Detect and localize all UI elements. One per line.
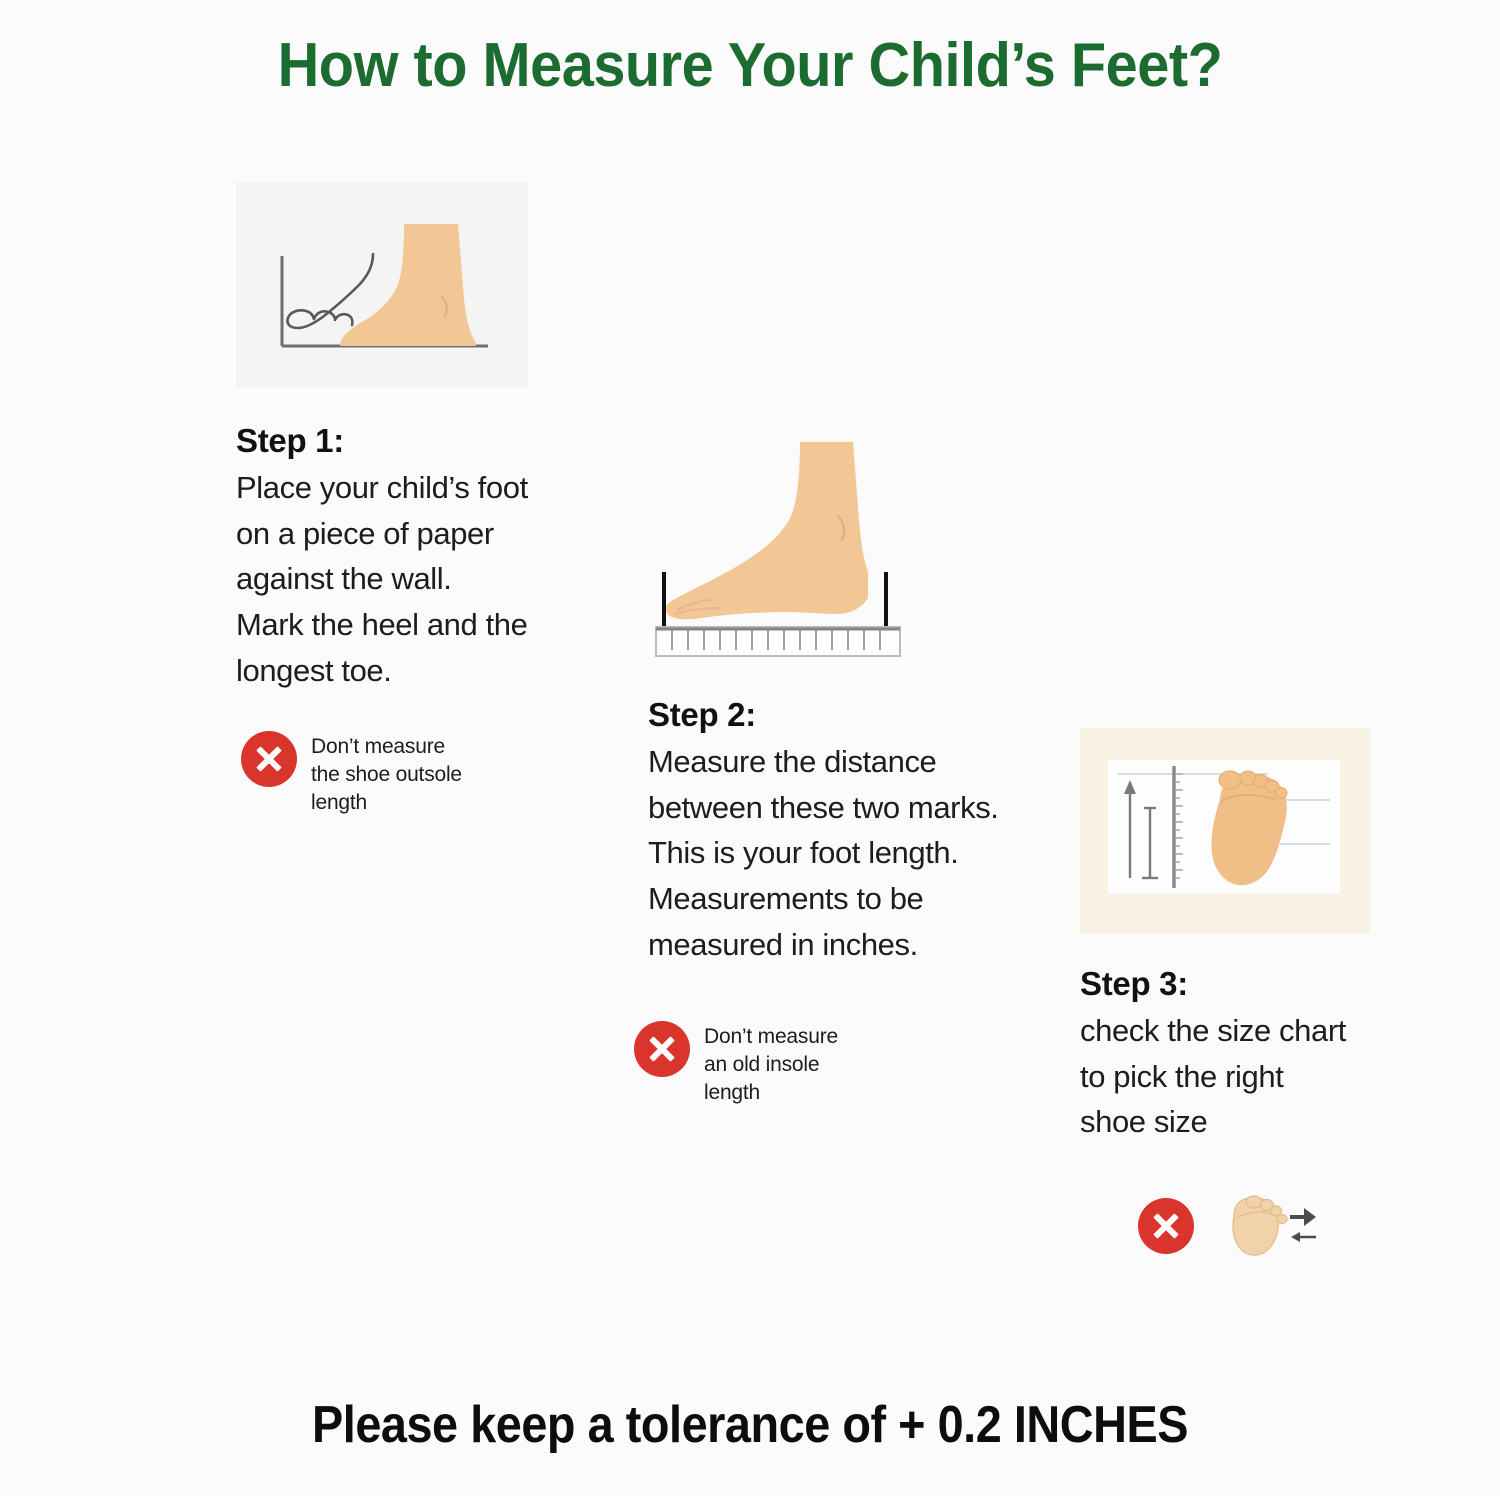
step-2-warning-text: Don’t measure an old insole length: [704, 1021, 838, 1107]
step-1-block: Step 1: Place your child’s foot on a pie…: [236, 182, 566, 817]
foot-sole-size-chart-illustration: [1108, 760, 1340, 894]
step-1-text: Step 1: Place your child’s foot on a pie…: [236, 420, 566, 693]
red-x-circle-icon: [634, 1021, 690, 1077]
step-2-block: Step 2: Measure the distance between the…: [648, 420, 1078, 1107]
step-2-text: Step 2: Measure the distance between the…: [648, 694, 1078, 967]
step-1-figure: [236, 182, 528, 388]
foot-sole-width-arrows-icon: [1222, 1193, 1316, 1259]
step-3-body: check the size chart to pick the right s…: [1080, 1008, 1430, 1145]
step-1-warning: Don’t measure the shoe outsole length: [241, 731, 566, 817]
step-3-figure: [1080, 728, 1370, 933]
foot-on-ruler-illustration: [648, 420, 938, 660]
step-1-warning-text: Don’t measure the shoe outsole length: [311, 731, 462, 817]
step-1-body: Place your child’s foot on a piece of pa…: [236, 465, 566, 693]
step-3-text: Step 3: check the size chart to pick the…: [1080, 963, 1430, 1145]
arrow-left-icon: [1291, 1232, 1316, 1242]
step-1-heading: Step 1:: [236, 420, 566, 461]
step-2-warning: Don’t measure an old insole length: [634, 1021, 1078, 1107]
red-x-circle-icon: [1138, 1198, 1194, 1254]
foot-against-wall-illustration: [236, 182, 528, 388]
step-2-figure: [648, 420, 938, 660]
step-3-heading: Step 3:: [1080, 963, 1430, 1004]
size-chart-panel: [1108, 760, 1340, 894]
arrow-right-icon: [1290, 1208, 1316, 1226]
red-x-circle-icon: [241, 731, 297, 787]
step-2-heading: Step 2:: [648, 694, 1078, 735]
step-3-block: Step 3: check the size chart to pick the…: [1080, 728, 1430, 1259]
tolerance-note: Please keep a tolerance of + 0.2 INCHES: [75, 1395, 1425, 1455]
infographic-page: How to Measure Your Child’s Feet? Step 1…: [0, 0, 1500, 1496]
page-title: How to Measure Your Child’s Feet?: [53, 30, 1448, 101]
step-2-body: Measure the distance between these two m…: [648, 739, 1078, 967]
step-3-warning: [1138, 1193, 1430, 1259]
